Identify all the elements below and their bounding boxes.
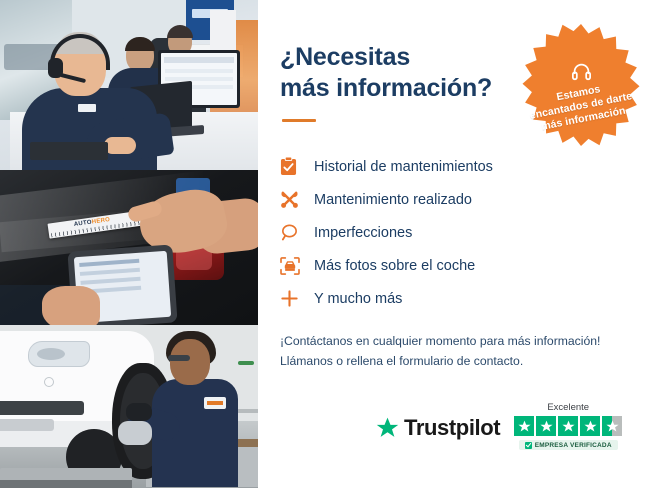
photo-mechanic-head [170, 339, 210, 385]
list-item: Más fotos sobre el coche [280, 249, 628, 282]
star-filled [514, 416, 534, 436]
page-title-line2: más información? [280, 74, 492, 102]
promo-badge: Estamos encantados de darte más informac… [518, 22, 644, 148]
star-filled [580, 416, 600, 436]
list-item-label: Mantenimiento realizado [314, 192, 472, 208]
content-panel: ¿Necesitas más información? Estamos enca… [258, 0, 650, 488]
star-half [602, 416, 622, 436]
list-item-label: Y mucho más [314, 291, 402, 307]
page-title-line1: ¿Necesitas [280, 43, 410, 71]
feature-list: Historial de mantenimientos Mantenimient… [280, 150, 628, 315]
trustpilot-star-icon [376, 417, 399, 439]
title-divider [282, 119, 316, 122]
photo-grille [0, 401, 84, 415]
magnifier-icon [280, 223, 314, 242]
photo-mechanic-logo [204, 397, 226, 409]
plus-icon [280, 289, 314, 308]
star-filled [558, 416, 578, 436]
photo-hose [238, 361, 254, 365]
headset-icon [571, 62, 592, 86]
contact-paragraph-line2: Llámanos o rellena el formulario de cont… [280, 354, 523, 368]
list-item: Mantenimiento realizado [280, 183, 628, 216]
photo-person1-badge [78, 104, 96, 112]
wrench-screwdriver-icon [280, 190, 314, 209]
contact-paragraph-line1: ¡Contáctanos en cualquier momento para m… [280, 334, 600, 348]
photo-mechanic-glasses [168, 355, 190, 361]
car-scan-icon [280, 257, 314, 275]
list-item: Historial de mantenimientos [280, 150, 628, 183]
list-item-label: Más fotos sobre el coche [314, 258, 475, 274]
mechanic-wheel-photo [0, 325, 258, 488]
photo-person1-hand [104, 137, 136, 154]
photo-lift-base [0, 480, 132, 488]
trustpilot-rating: Excelente [514, 402, 622, 450]
trustpilot-logo: Trustpilot [376, 415, 500, 450]
promo-card: AUTOHERO [0, 0, 650, 488]
list-item: Imperfecciones [280, 216, 628, 249]
list-item-label: Historial de mantenimientos [314, 159, 493, 175]
photo-mechanic-glove [118, 421, 152, 445]
trustpilot-stars [514, 416, 622, 436]
star-filled [536, 416, 556, 436]
photo-keyboard [30, 142, 108, 160]
call-center-agents-photo [0, 0, 258, 170]
photo-car-emblem [44, 377, 54, 387]
promo-badge-text: Estamos encantados de darte más informac… [526, 78, 635, 136]
status-badge: EMPRESA VERIFICADA [519, 440, 618, 450]
trustpilot-rating-label: Excelente [547, 402, 589, 413]
photo-lower-grille [0, 419, 54, 431]
photo-hand-holding-tablet [42, 286, 100, 325]
check-icon [525, 442, 532, 449]
clipboard-check-icon [280, 157, 314, 176]
trustpilot-widget[interactable]: Trustpilot Excelente [376, 402, 622, 450]
inspection-ruler-photo: AUTOHERO [0, 170, 258, 325]
list-item: Y mucho más [280, 282, 628, 315]
photo-mechanic-glove-dark [126, 403, 152, 421]
trustpilot-wordmark: Trustpilot [404, 415, 500, 441]
list-item-label: Imperfecciones [314, 225, 412, 241]
contact-paragraph: ¡Contáctanos en cualquier momento para m… [280, 332, 620, 372]
verified-label: EMPRESA VERIFICADA [535, 442, 612, 449]
page-title: ¿Necesitas más información? [280, 42, 510, 103]
photo-headlight [28, 341, 90, 367]
photo-column: AUTOHERO [0, 0, 258, 488]
